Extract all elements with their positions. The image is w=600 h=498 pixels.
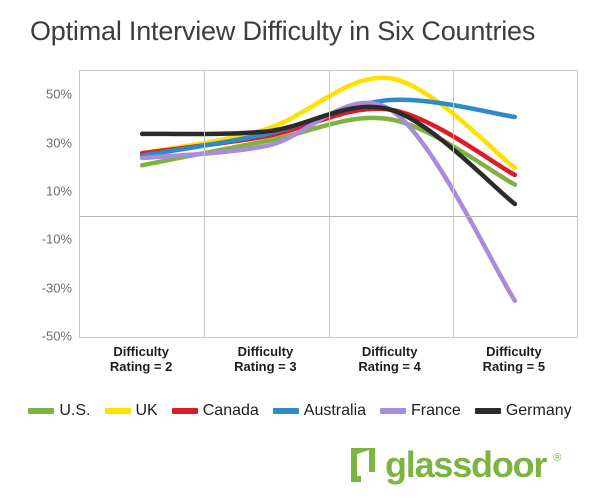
legend-item-germany[interactable]: Germany — [475, 402, 572, 420]
y-axis: 50%30%10%-10%-30%-50% — [8, 70, 72, 338]
legend-label: Germany — [506, 402, 572, 420]
y-axis-tick-label: 50% — [14, 87, 72, 102]
plot-area — [79, 70, 578, 338]
legend-label: Australia — [304, 402, 366, 420]
x-tick-line1: Difficulty — [71, 344, 211, 359]
legend-label: France — [411, 402, 461, 420]
x-axis-tick-label: DifficultyRating = 3 — [195, 344, 335, 374]
x-tick-line1: Difficulty — [444, 344, 584, 359]
legend-label: UK — [136, 402, 158, 420]
logo-wordmark: glassdoor — [385, 446, 546, 484]
legend-swatch — [28, 408, 54, 414]
x-axis-tick-label: DifficultyRating = 5 — [444, 344, 584, 374]
x-axis-tick-label: DifficultyRating = 4 — [320, 344, 460, 374]
zero-gridline — [80, 216, 577, 217]
y-axis-tick-label: -10% — [14, 232, 72, 247]
y-axis-tick-label: 30% — [14, 135, 72, 150]
vertical-gridline — [204, 71, 205, 337]
legend-item-france[interactable]: France — [380, 402, 461, 420]
glassdoor-logo: glassdoor ® — [348, 446, 561, 484]
x-tick-line2: Rating = 3 — [195, 359, 335, 374]
x-tick-line2: Rating = 4 — [320, 359, 460, 374]
legend-item-australia[interactable]: Australia — [273, 402, 366, 420]
y-axis-tick-label: 10% — [14, 183, 72, 198]
legend-swatch — [380, 408, 406, 414]
legend-swatch — [172, 408, 198, 414]
legend-item-canada[interactable]: Canada — [172, 402, 259, 420]
legend-item-uk[interactable]: UK — [105, 402, 158, 420]
legend-label: Canada — [203, 402, 259, 420]
vertical-gridline — [329, 71, 330, 337]
y-axis-tick-label: -50% — [14, 329, 72, 344]
vertical-gridline — [453, 71, 454, 337]
x-axis: DifficultyRating = 2DifficultyRating = 3… — [79, 344, 578, 384]
legend-swatch — [273, 408, 299, 414]
legend-swatch — [105, 408, 131, 414]
registered-trademark: ® — [553, 452, 561, 464]
chart-legend: U.S.UKCanadaAustraliaFranceGermany — [0, 398, 600, 424]
x-axis-tick-label: DifficultyRating = 2 — [71, 344, 211, 374]
glassdoor-door-icon — [348, 446, 378, 484]
x-tick-line1: Difficulty — [195, 344, 335, 359]
x-tick-line2: Rating = 5 — [444, 359, 584, 374]
y-axis-tick-label: -30% — [14, 280, 72, 295]
x-tick-line2: Rating = 2 — [71, 359, 211, 374]
legend-label: U.S. — [59, 402, 90, 420]
page-title: Optimal Interview Difficulty in Six Coun… — [30, 16, 590, 47]
legend-swatch — [475, 408, 501, 414]
legend-item-us[interactable]: U.S. — [28, 402, 90, 420]
x-tick-line1: Difficulty — [320, 344, 460, 359]
